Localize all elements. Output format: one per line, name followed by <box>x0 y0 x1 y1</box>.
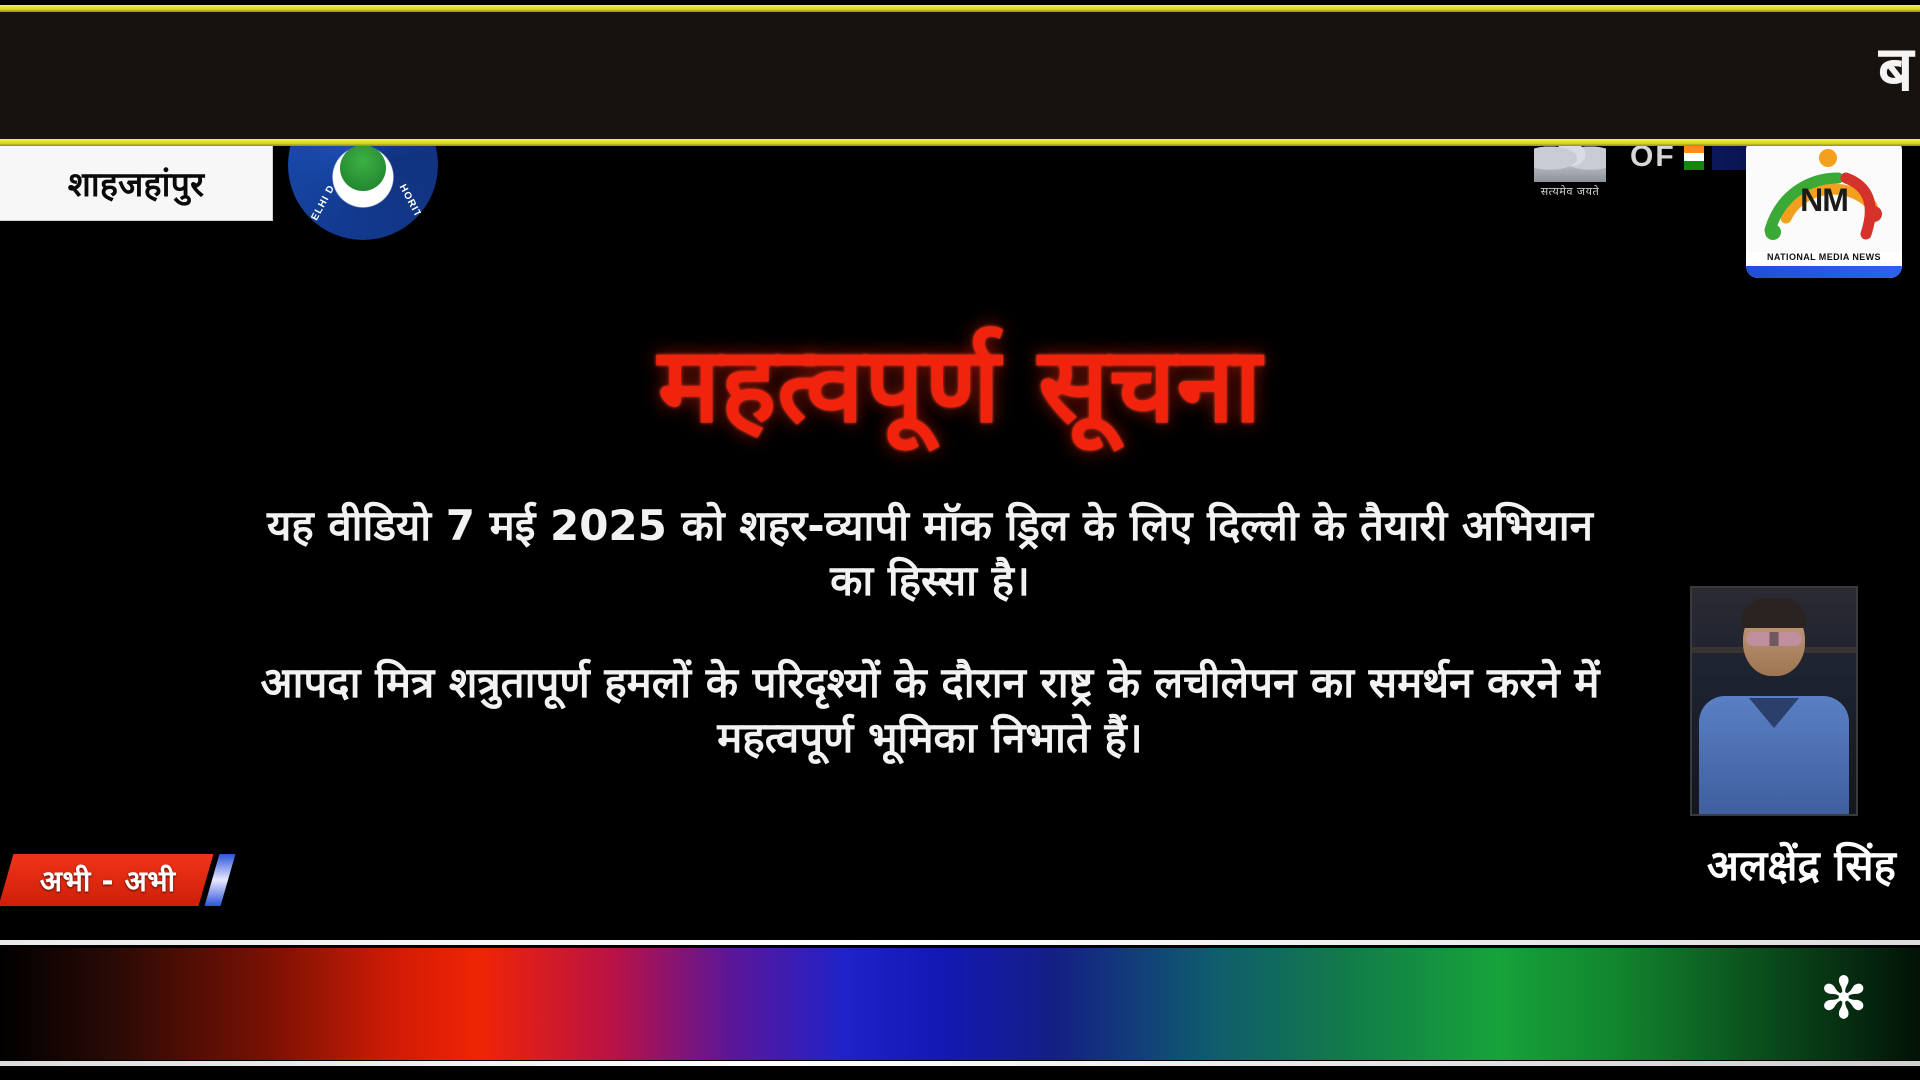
emblem-motto: सत्यमेव जयते <box>1510 184 1630 199</box>
seal-left-text: DELHI D <box>306 183 338 230</box>
ticker-rule-bottom <box>0 139 1920 146</box>
top-ticker-strip: ब <box>0 0 1920 146</box>
reporter-name-label: अलक्षेंद्र सिंह <box>1440 836 1910 893</box>
spectrum-rule-top <box>0 940 1920 945</box>
delhi-authority-seal-icon: DELHI D HORITY <box>288 146 438 240</box>
national-emblem-icon: सत्यमेव जयते <box>1510 146 1630 199</box>
nm-accent-bar <box>1746 266 1902 278</box>
seal-ring-text: DELHI D HORITY <box>288 146 438 240</box>
reporter-hair <box>1741 598 1807 628</box>
ticker-text: ब <box>1878 38 1920 100</box>
video-stage: शाहजहांपुर DELHI D HORITY सत्यमेव जयते O… <box>0 146 1920 934</box>
india-flag-icon <box>1684 146 1704 170</box>
star-icon: ✻ <box>1819 978 1868 1018</box>
broadcast-screen: ब शाहजहांपुर DELHI D HORITY सत्यमेव जयते… <box>0 0 1920 1080</box>
channel-logo-card: NM NATIONAL MEDIA NEWS <box>1746 146 1902 278</box>
bottom-spectrum-bar: ✻ <box>0 934 1920 1080</box>
breaking-news-body: अभी - अभी <box>0 854 213 906</box>
city-name-plate: शाहजहांपुर <box>0 146 272 220</box>
slate-body-copy: यह वीडियो 7 मई 2025 को शहर-व्यापी मॉक ड्… <box>260 498 1600 766</box>
spectrum-gradient <box>0 948 1920 1060</box>
slate-paragraph: आपदा मित्र शत्रुतापूर्ण हमलों के परिदृश्… <box>260 655 1600 766</box>
slate-paragraph: यह वीडियो 7 मई 2025 को शहर-व्यापी मॉक ड्… <box>260 498 1600 609</box>
breaking-news-label: अभी - अभी <box>40 861 176 900</box>
city-name-label: शाहजहांपुर <box>68 160 205 206</box>
emblem-glyph <box>1534 146 1606 182</box>
wordmark-of-label: OF <box>1630 146 1676 174</box>
page-title: महत्वपूर्ण सूचना <box>0 331 1920 440</box>
seal-right-text: HORITY <box>397 183 427 227</box>
reporter-thumbnail <box>1690 586 1858 816</box>
nm-initials: NM <box>1746 182 1902 219</box>
spectrum-rule-bottom <box>0 1061 1920 1066</box>
ticker-rule-top <box>0 5 1920 12</box>
breaking-news-flag: अभी - अभी <box>6 854 228 906</box>
reporter-sunglasses-icon <box>1746 632 1802 646</box>
nm-caption: NATIONAL MEDIA NEWS <box>1746 252 1902 262</box>
